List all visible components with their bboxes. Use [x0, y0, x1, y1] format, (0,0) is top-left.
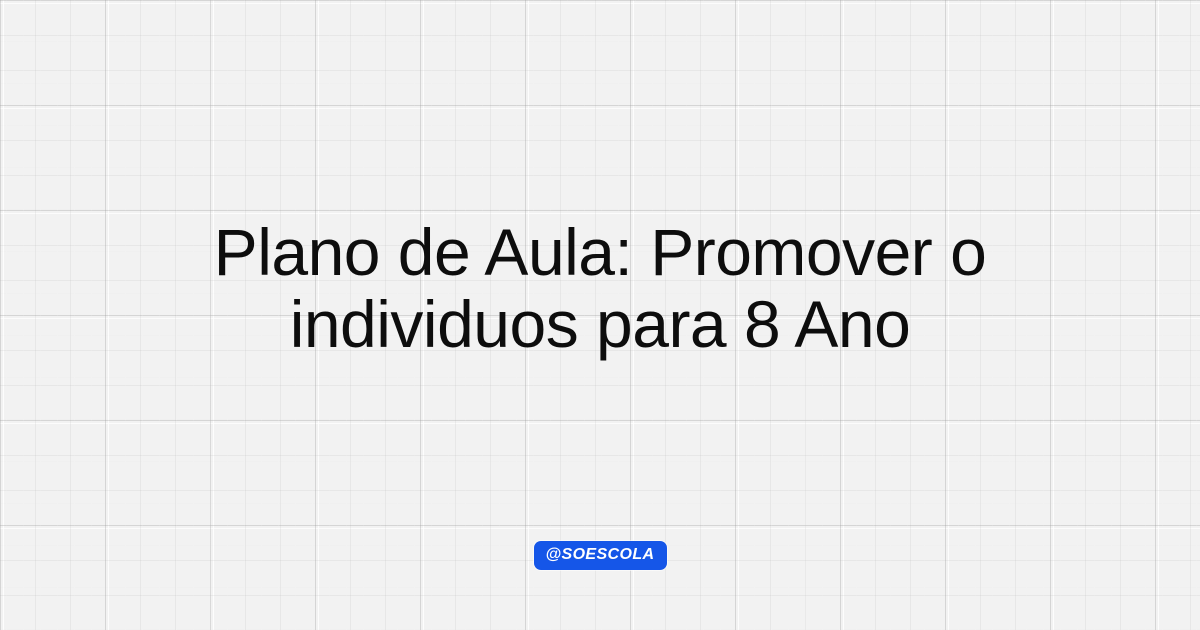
page-title: Plano de Aula: Promover o individuos par…	[70, 216, 1130, 360]
brand-badge[interactable]: @SOESCOLA	[534, 541, 667, 570]
share-card: Plano de Aula: Promover o individuos par…	[0, 0, 1200, 630]
brand-badge-wrap: @SOESCOLA	[0, 541, 1200, 570]
title-block: Plano de Aula: Promover o individuos par…	[70, 216, 1130, 414]
